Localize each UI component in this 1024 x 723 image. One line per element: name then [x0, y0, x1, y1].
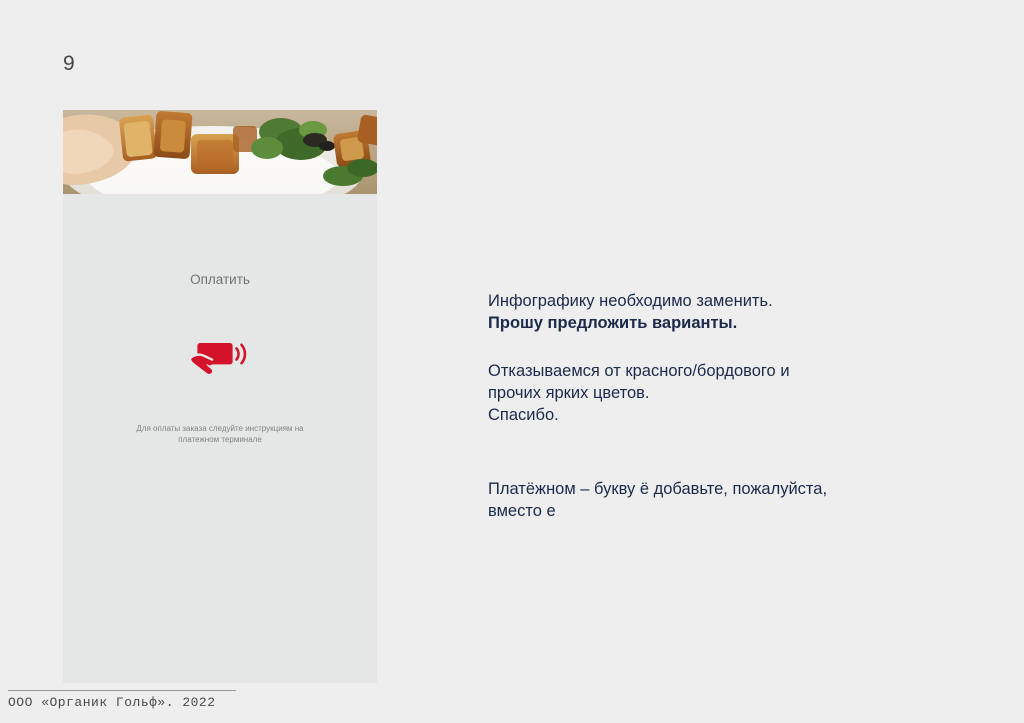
- comment-gap-1: [488, 334, 958, 360]
- contactless-payment-icon: [63, 338, 377, 383]
- footer-divider: [8, 690, 236, 691]
- footer-text: ООО «Органик Гольф». 2022: [8, 695, 216, 710]
- review-comments: Инфографику необходимо заменить. Прошу п…: [488, 290, 958, 522]
- comment-line-5: Спасибо.: [488, 404, 958, 426]
- slide-number: 9: [63, 52, 75, 76]
- pay-hint-line2: платежном терминале: [178, 435, 262, 444]
- comment-line-2: Прошу предложить варианты.: [488, 312, 958, 334]
- comment-line-3: Отказываемся от красного/бордового и: [488, 360, 958, 382]
- food-photo: [63, 110, 377, 194]
- pay-hint-line1: Для оплаты заказа следуйте инструкциям н…: [136, 424, 303, 433]
- comment-line-7: вместо е: [488, 500, 958, 522]
- slide: 9: [0, 0, 1024, 723]
- pay-title: Оплатить: [63, 272, 377, 287]
- comment-line-4: прочих ярких цветов.: [488, 382, 958, 404]
- comment-line-1: Инфографику необходимо заменить.: [488, 290, 958, 312]
- comment-line-6: Платёжном – букву ё добавьте, пожалуйста…: [488, 478, 958, 500]
- phone-mockup: Оплатить Для оплаты заказа следуйте инст…: [63, 110, 377, 683]
- pay-hint: Для оплаты заказа следуйте инструкциям н…: [63, 423, 377, 445]
- comment-gap-2: [488, 426, 958, 478]
